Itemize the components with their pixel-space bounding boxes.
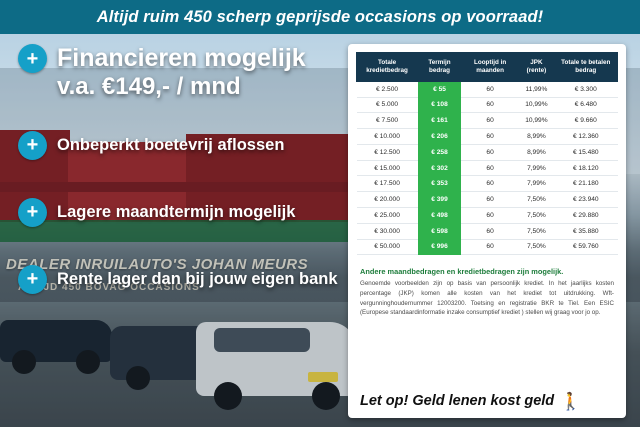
cell-r4-c4: € 15.480: [554, 144, 617, 160]
cell-r6-c1: € 353: [418, 176, 462, 192]
cell-r3-c0: € 10.000: [357, 129, 418, 145]
rates-table: Totale kredietbedrag Termijn bedrag Loop…: [356, 52, 618, 255]
cell-r8-c3: 7,50%: [519, 207, 554, 223]
cell-r4-c0: € 12.500: [357, 144, 418, 160]
cell-r8-c4: € 29.880: [554, 207, 617, 223]
cell-r1-c4: € 6.480: [554, 97, 617, 113]
benefit-item-1: + Onbeperkt boetevrij aflossen: [18, 131, 348, 160]
table-row: € 5.000€ 1086010,99%€ 6.480: [357, 97, 618, 113]
footer-warning-text: Let op! Geld lenen kost geld: [360, 393, 554, 409]
table-row: € 20.000€ 399607,50%€ 23.940: [357, 192, 618, 208]
cell-r7-c0: € 20.000: [357, 192, 418, 208]
benefit-item-2: + Lagere maandtermijn mogelijk: [18, 198, 348, 227]
cell-r6-c2: 60: [461, 176, 518, 192]
table-row: € 7.500€ 1616010,99%€ 9.660: [357, 113, 618, 129]
top-banner: Altijd ruim 450 scherp geprijsde occasio…: [0, 0, 640, 34]
cell-r5-c2: 60: [461, 160, 518, 176]
cell-r3-c4: € 12.360: [554, 129, 617, 145]
table-row: € 50.000€ 996607,50%€ 59.760: [357, 239, 618, 255]
cell-r7-c4: € 23.940: [554, 192, 617, 208]
cell-r5-c3: 7,99%: [519, 160, 554, 176]
cell-r7-c3: 7,50%: [519, 192, 554, 208]
cell-r4-c3: 8,99%: [519, 144, 554, 160]
cell-r10-c3: 7,50%: [519, 239, 554, 255]
cell-r5-c0: € 15.000: [357, 160, 418, 176]
cell-r6-c0: € 17.500: [357, 176, 418, 192]
cell-r1-c1: € 108: [418, 97, 462, 113]
cell-r3-c3: 8,99%: [519, 129, 554, 145]
cell-r8-c0: € 25.000: [357, 207, 418, 223]
banner-text: Altijd ruim 450 scherp geprijsde occasio…: [97, 8, 544, 27]
cell-r2-c2: 60: [461, 113, 518, 129]
cell-r2-c1: € 161: [418, 113, 462, 129]
table-row: € 2.500€ 556011,99%€ 3.300: [357, 81, 618, 97]
benefit-label-2: Lagere maandtermijn mogelijk: [57, 203, 295, 222]
benefit-label-1: Onbeperkt boetevrij aflossen: [57, 136, 284, 155]
cell-r0-c2: 60: [461, 81, 518, 97]
cell-r0-c1: € 55: [418, 81, 462, 97]
cell-r0-c0: € 2.500: [357, 81, 418, 97]
cell-r6-c3: 7,99%: [519, 176, 554, 192]
cell-r6-c4: € 21.180: [554, 176, 617, 192]
table-row: € 25.000€ 498607,50%€ 29.880: [357, 207, 618, 223]
cell-r4-c2: 60: [461, 144, 518, 160]
plus-icon: +: [18, 265, 47, 294]
cell-r0-c3: 11,99%: [519, 81, 554, 97]
headline-block: Financieren mogelijk v.a. €149,- / mnd: [57, 44, 306, 101]
benefit-item-3: + Rente lager dan bij jouw eigen bank: [18, 265, 348, 294]
table-header-row: Totale kredietbedrag Termijn bedrag Loop…: [357, 53, 618, 82]
financing-card: Totale kredietbedrag Termijn bedrag Loop…: [348, 44, 626, 418]
table-row: € 12.500€ 258608,99%€ 15.480: [357, 144, 618, 160]
cell-r4-c1: € 258: [418, 144, 462, 160]
cell-r10-c4: € 59.760: [554, 239, 617, 255]
note-title: Andere maandbedragen en kredietbedragen …: [360, 267, 614, 276]
cell-r8-c2: 60: [461, 207, 518, 223]
plus-icon: +: [18, 198, 47, 227]
cell-r2-c4: € 9.660: [554, 113, 617, 129]
benefit-headline-row: + Financieren mogelijk v.a. €149,- / mnd: [18, 44, 348, 101]
cell-r1-c2: 60: [461, 97, 518, 113]
table-row: € 15.000€ 302607,99%€ 18.120: [357, 160, 618, 176]
note-body: Genoemde voorbeelden zijn op basis van p…: [360, 279, 614, 317]
cell-r2-c0: € 7.500: [357, 113, 418, 129]
cell-r7-c1: € 399: [418, 192, 462, 208]
table-row: € 17.500€ 353607,99%€ 21.180: [357, 176, 618, 192]
col-header-0: Totale kredietbedrag: [357, 53, 418, 82]
benefits-list: + Financieren mogelijk v.a. €149,- / mnd…: [18, 44, 348, 294]
cell-r9-c2: 60: [461, 223, 518, 239]
cell-r9-c4: € 35.880: [554, 223, 617, 239]
table-row: € 30.000€ 598607,50%€ 35.880: [357, 223, 618, 239]
col-header-2: Looptijd in maanden: [461, 53, 518, 82]
cell-r1-c0: € 5.000: [357, 97, 418, 113]
plus-icon: +: [18, 131, 47, 160]
table-row: € 10.000€ 206608,99%€ 12.360: [357, 129, 618, 145]
cell-r3-c2: 60: [461, 129, 518, 145]
cell-r5-c4: € 18.120: [554, 160, 617, 176]
cell-r10-c2: 60: [461, 239, 518, 255]
cell-r8-c1: € 498: [418, 207, 462, 223]
cell-r3-c1: € 206: [418, 129, 462, 145]
headline-line-2: v.a. €149,- / mnd: [57, 74, 306, 101]
col-header-3: JPK (rente): [519, 53, 554, 82]
benefit-label-3: Rente lager dan bij jouw eigen bank: [57, 270, 338, 289]
walking-person-icon: 🚶: [560, 393, 581, 410]
cell-r1-c3: 10,99%: [519, 97, 554, 113]
cell-r7-c2: 60: [461, 192, 518, 208]
cell-r10-c0: € 50.000: [357, 239, 418, 255]
plus-icon: +: [18, 44, 47, 73]
cell-r5-c1: € 302: [418, 160, 462, 176]
rates-table-body: € 2.500€ 556011,99%€ 3.300€ 5.000€ 10860…: [357, 81, 618, 255]
card-footer: Let op! Geld lenen kost geld 🚶: [348, 384, 626, 418]
cell-r9-c3: 7,50%: [519, 223, 554, 239]
cell-r9-c1: € 598: [418, 223, 462, 239]
cell-r9-c0: € 30.000: [357, 223, 418, 239]
cell-r2-c3: 10,99%: [519, 113, 554, 129]
col-header-4: Totale te betalen bedrag: [554, 53, 617, 82]
headline-line-1: Financieren mogelijk: [57, 44, 306, 72]
col-header-1: Termijn bedrag: [418, 53, 462, 82]
cell-r10-c1: € 996: [418, 239, 462, 255]
cell-r0-c4: € 3.300: [554, 81, 617, 97]
